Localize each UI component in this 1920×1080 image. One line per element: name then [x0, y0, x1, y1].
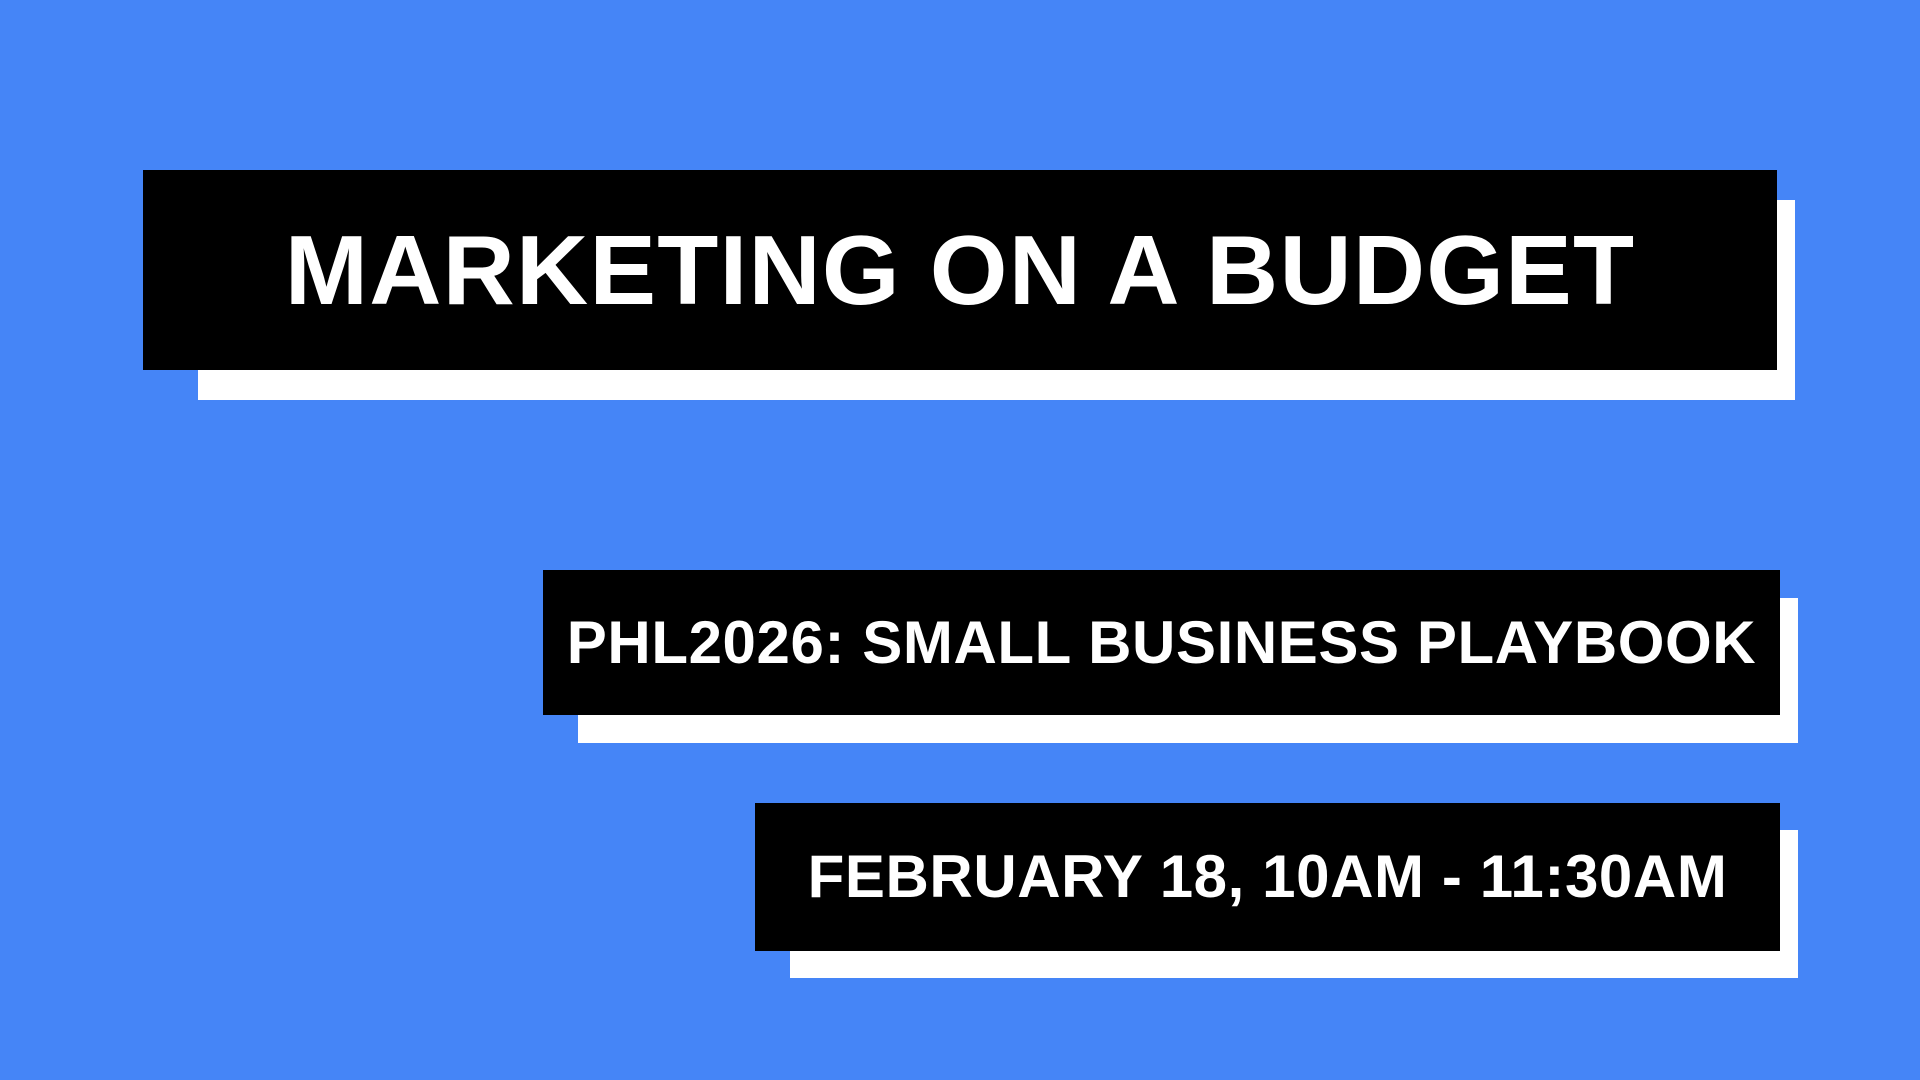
event-poster: MARKETING ON A BUDGET PHL2026: SMALL BUS…: [0, 0, 1920, 1080]
page-title: MARKETING ON A BUDGET: [285, 221, 1636, 319]
title-banner-slab: MARKETING ON A BUDGET: [143, 170, 1777, 370]
page-subtitle: PHL2026: SMALL BUSINESS PLAYBOOK: [567, 613, 1756, 673]
datetime-banner-slab: FEBRUARY 18, 10AM - 11:30AM: [755, 803, 1780, 951]
event-datetime: FEBRUARY 18, 10AM - 11:30AM: [808, 847, 1728, 907]
title-banner: MARKETING ON A BUDGET: [0, 0, 1920, 440]
subtitle-banner-slab: PHL2026: SMALL BUSINESS PLAYBOOK: [543, 570, 1780, 715]
